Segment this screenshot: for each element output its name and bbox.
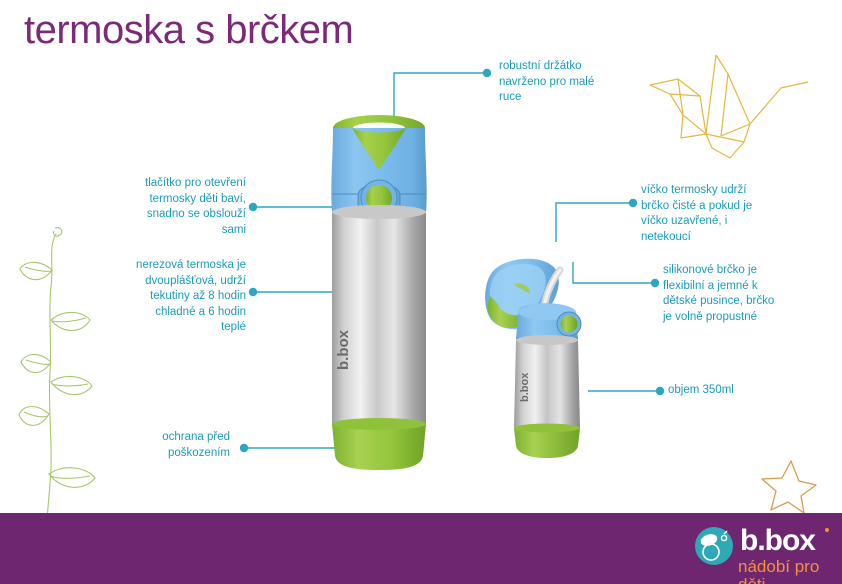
bottle-base — [332, 424, 426, 470]
open-bottle-brand-text: b.box — [519, 372, 531, 402]
product-image-closed-bottle: b.box — [308, 108, 450, 472]
callout-lid-line-2: brčko čisté a pokud je — [641, 199, 776, 215]
star-decoration — [758, 455, 818, 515]
product-image-open-bottle: b.box — [480, 216, 612, 462]
page-title: termoska s brčkem — [24, 8, 353, 53]
callout-straw-line-1: silikonové brčko je — [663, 263, 803, 279]
bottle-brand-text: b.box — [335, 329, 352, 370]
callout-button-line-2: termosky děti baví, — [96, 192, 246, 208]
connector-dot-protection — [240, 444, 248, 452]
connector-dot-button — [249, 203, 257, 211]
callout-lid: víčko termosky udrží brčko čisté a pokud… — [641, 183, 776, 245]
callout-insulation-line-1: nerezová termoska je — [86, 258, 246, 274]
callout-insulation-line-3: tekutiny až 8 hodin — [86, 289, 246, 305]
callout-insulation-line-2: dvouplášťová, udrží — [86, 274, 246, 290]
callout-protection: ochrana před poškozením — [100, 430, 230, 461]
bbox-circle-mark-icon — [694, 526, 734, 566]
callout-protection-line-2: poškozením — [100, 446, 230, 462]
callout-button-line-4: sami — [96, 223, 246, 239]
connector-dot-handle — [483, 69, 491, 77]
callout-handle-line-2: navrženo pro malé — [499, 75, 619, 91]
callout-insulation-line-4: chladné a 6 hodin — [86, 305, 246, 321]
infographic-canvas: termoska s brčkem — [0, 0, 842, 584]
logo-accent-dot — [825, 528, 829, 532]
origami-crane-decoration — [648, 52, 813, 172]
callout-open-button: tlačítko pro otevření termosky děti baví… — [96, 176, 246, 238]
callout-insulation: nerezová termoska je dvouplášťová, udrží… — [86, 258, 246, 336]
callout-straw: silikonové brčko je flexibilní a jemné k… — [663, 263, 803, 325]
logo-wordmark: b.box — [740, 526, 815, 556]
callout-volume: objem 350ml — [668, 383, 788, 399]
connector-dot-insulation — [249, 288, 257, 296]
callout-protection-line-1: ochrana před — [100, 430, 230, 446]
callout-volume-line-1: objem 350ml — [668, 383, 788, 399]
callout-insulation-line-5: teplé — [86, 320, 246, 336]
callout-lid-line-4: netekoucí — [641, 230, 776, 246]
callout-button-line-3: snadno se obslouží — [96, 207, 246, 223]
brand-logo: b.box nádobí pro děti — [694, 520, 834, 578]
callout-lid-line-3: víčko uzavřené, i — [641, 214, 776, 230]
connector-dot-straw — [651, 279, 659, 287]
callout-button-line-1: tlačítko pro otevření — [96, 176, 246, 192]
callout-straw-line-3: dětské pusince, brčko — [663, 294, 803, 310]
bottle-steel-body — [332, 212, 426, 424]
callout-straw-line-2: flexibilní a jemné k — [663, 279, 803, 295]
connector-dot-lid — [629, 199, 637, 207]
open-bottle-button — [561, 316, 578, 333]
callout-straw-line-4: je volně propustné — [663, 310, 803, 326]
connector-dot-volume — [656, 387, 664, 395]
callout-handle-line-3: ruce — [499, 90, 619, 106]
callout-handle: robustní držátko navrženo pro malé ruce — [499, 59, 619, 106]
callout-lid-line-1: víčko termosky udrží — [641, 183, 776, 199]
callout-handle-line-1: robustní držátko — [499, 59, 619, 75]
logo-tagline: nádobí pro děti — [738, 558, 834, 584]
